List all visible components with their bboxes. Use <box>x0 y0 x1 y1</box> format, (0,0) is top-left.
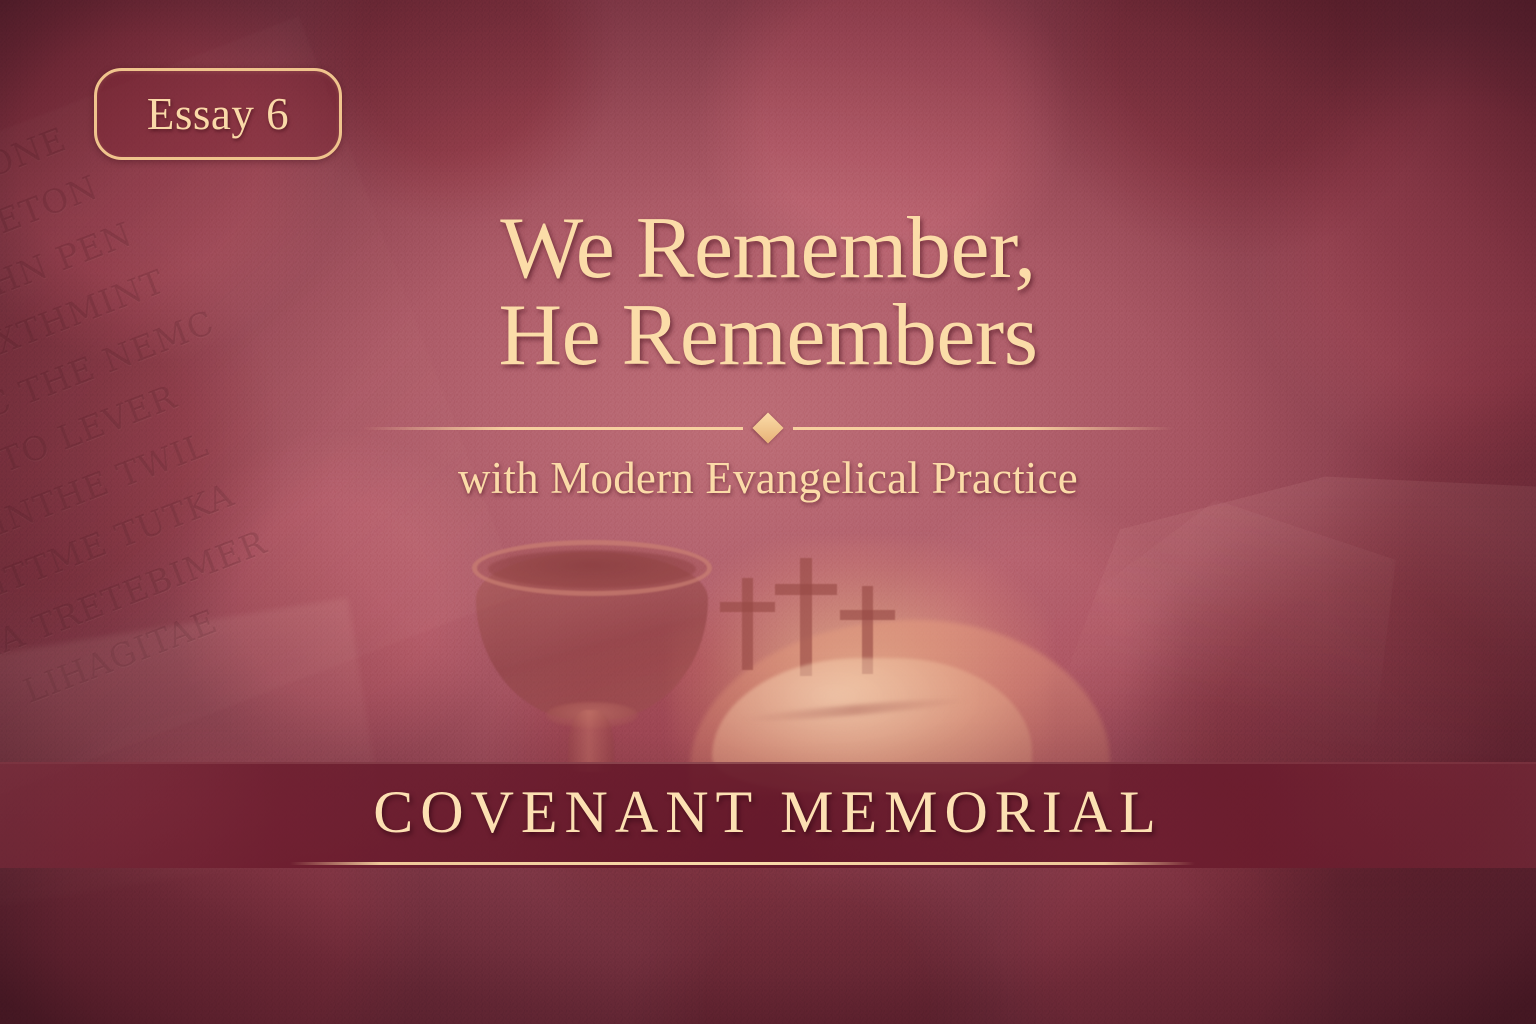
banner-underline-rule <box>290 862 1195 865</box>
essay-number-label: Essay 6 <box>147 88 289 140</box>
divider-rule-left <box>363 427 743 430</box>
title-line-1: We Remember, <box>0 205 1536 292</box>
banner-title: COVENANT MEMORIAL <box>0 778 1536 847</box>
divider-rule-right <box>793 427 1173 430</box>
ornamental-divider <box>0 414 1536 442</box>
essay-number-badge[interactable]: Essay 6 <box>94 68 342 160</box>
diamond-ornament-icon <box>752 412 783 443</box>
title-line-2: He Remembers <box>0 292 1536 379</box>
page-title: We Remember, He Remembers <box>0 205 1536 379</box>
banner-band-highlight <box>0 762 1536 764</box>
essay-cover-image: TWE THYMONE HYTTTAL ETON SQ HOQTHN PEN F… <box>0 0 1536 1024</box>
page-subtitle: with Modern Evangelical Practice <box>0 452 1536 504</box>
